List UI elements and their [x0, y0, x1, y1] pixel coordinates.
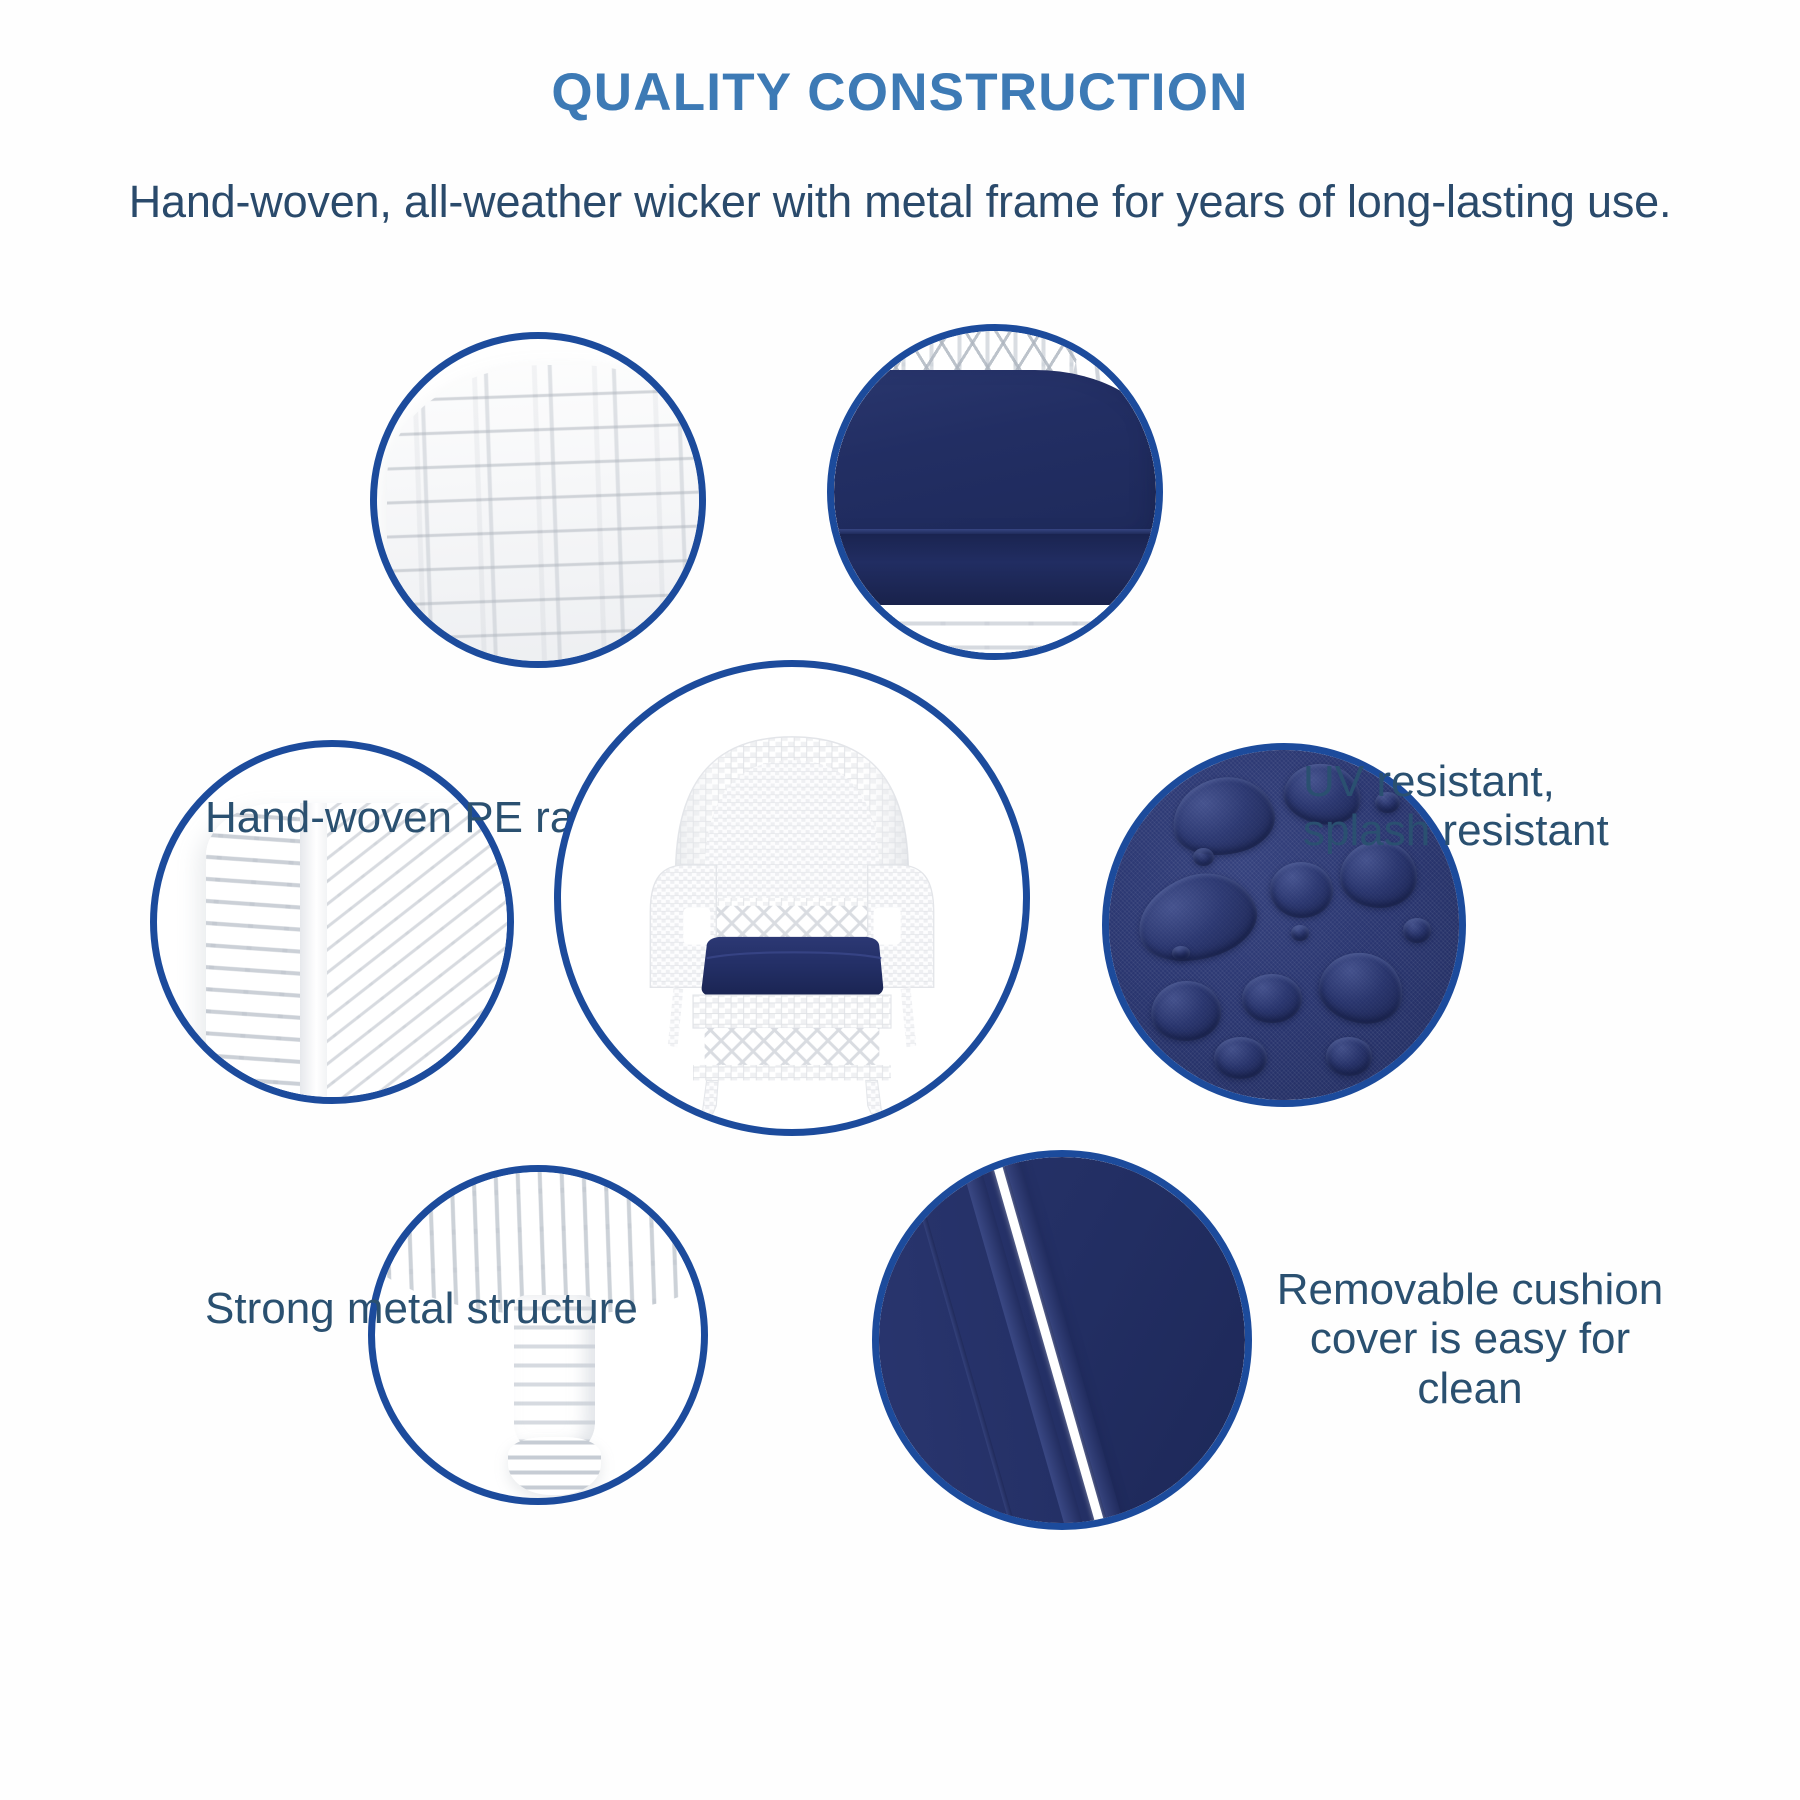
chair-right-arm-opening: [874, 908, 901, 945]
chair-front-right-leg: [866, 1080, 887, 1123]
navy-cushion-side: [834, 534, 1156, 605]
water-drop-icon: [1242, 974, 1302, 1023]
zipper-closeup-circle: [872, 1150, 1252, 1530]
chair-rear-left-leg: [668, 987, 684, 1047]
chair-leg-group: [453, 1172, 655, 1498]
chair-rear-right-leg: [901, 987, 917, 1047]
cushion-closeup-circle: [827, 324, 1163, 660]
page-subtitle: Hand-woven, all-weather wicker with meta…: [0, 176, 1800, 228]
cushion-closeup-image: [834, 331, 1156, 653]
chair-skirt-bottom: [693, 1065, 891, 1081]
water-drop-icon: [1326, 1037, 1372, 1076]
chair-front-left-foot: [692, 1117, 713, 1129]
water-drop-icon: [1214, 1037, 1267, 1079]
chair-front-right-foot: [871, 1117, 892, 1129]
chair-leg-foot: [508, 1437, 601, 1495]
caption-strong-metal-structure: Strong metal structure: [205, 1284, 638, 1333]
water-drop-icon: [1193, 848, 1214, 866]
chair-leg-image: [375, 1172, 701, 1498]
infographic-page: QUALITY CONSTRUCTION Hand-woven, all-wea…: [0, 0, 1800, 1800]
water-drop-icon: [1172, 946, 1190, 960]
rattan-weave-shape: [387, 365, 699, 661]
caption-uv-resistant: UV resistant, splash resistant: [1303, 757, 1609, 856]
full-chair-product-circle: [554, 660, 1030, 1136]
rattan-weave-closeup-circle: [370, 332, 706, 668]
water-drop-icon: [1403, 918, 1431, 943]
wicker-corner-block: [206, 803, 507, 1097]
chair-front-left-leg: [697, 1080, 718, 1123]
wicker-corner-face: [206, 803, 307, 1097]
caption-removable-cushion-cover: Removable cushion cover is easy for clea…: [1270, 1265, 1670, 1413]
chair-seat-cushion: [702, 937, 884, 997]
chair-product-image: [561, 667, 1023, 1129]
chair-left-arm-opening: [683, 908, 710, 945]
zipper-closeup-image: [879, 1157, 1245, 1523]
water-drop-icon: [1291, 925, 1309, 941]
chair-leg-closeup-circle: [368, 1165, 708, 1505]
wicker-armchair-illustration: [561, 667, 1023, 1129]
rattan-weave-image: [377, 339, 699, 661]
chair-front-lattice: [705, 1028, 880, 1067]
chair-seat-frame: [693, 995, 891, 1028]
basket-weave-texture: [387, 365, 699, 661]
page-title: QUALITY CONSTRUCTION: [0, 62, 1800, 123]
wicker-corner-edge-highlight: [300, 803, 327, 1097]
